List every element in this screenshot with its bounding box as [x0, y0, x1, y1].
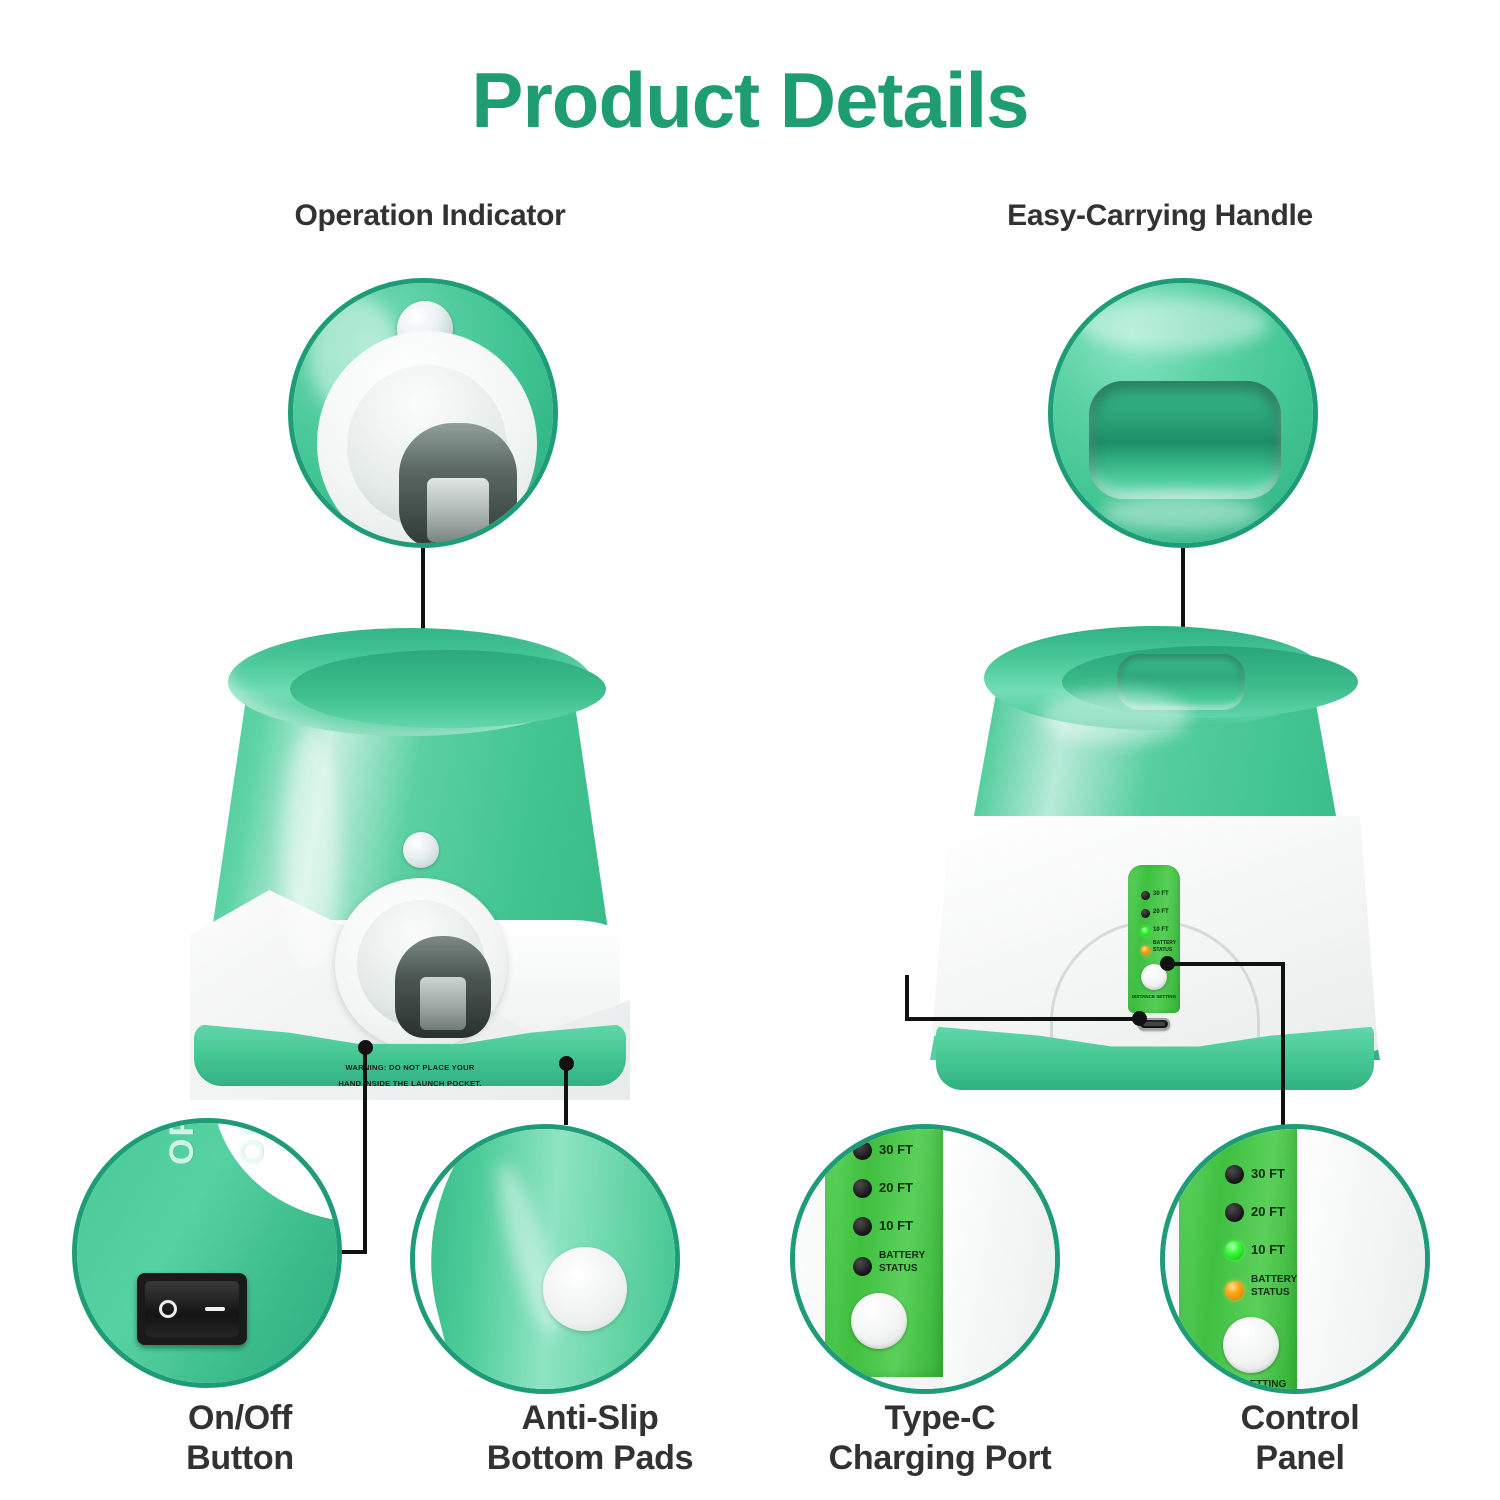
connector-line-type-c-horizontal — [905, 1017, 1140, 1021]
led-label-battery: BATTERY — [879, 1251, 925, 1262]
front-top-rim-inner — [290, 650, 606, 728]
led-10ft — [853, 1217, 872, 1236]
shell-white-area-right — [1297, 1129, 1430, 1394]
anti-slip-pad — [543, 1247, 627, 1331]
motion-sensor-icon — [403, 832, 439, 868]
callout-label-control-panel-line2: Panel — [1130, 1438, 1470, 1478]
led-label-status: STATUS — [1251, 1288, 1290, 1299]
callout-label-anti-slip-pads: Anti-Slip Bottom Pads — [380, 1398, 800, 1478]
led-label-status: STATUS — [1153, 948, 1172, 953]
rocker-switch[interactable] — [137, 1273, 247, 1345]
led-battery-status — [1141, 946, 1150, 955]
connector-dot-anti-slip — [559, 1056, 574, 1071]
led-10ft — [1141, 927, 1150, 936]
led-label-10ft: 10 FT — [1153, 927, 1169, 933]
detail-circle-anti-slip-pads — [410, 1124, 680, 1394]
callout-label-type-c-port: Type-C Charging Port — [740, 1398, 1140, 1478]
distance-setting-button-label: DISTANCE SETTING — [1128, 994, 1180, 999]
led-label-30ft: 30 FT — [879, 1143, 913, 1157]
led-30ft — [1225, 1165, 1244, 1184]
led-label-10ft: 10 FT — [879, 1219, 913, 1233]
detail-circle-type-c-port: 30 FT 20 FT 10 FT BATTERY STATUS DISTANC… — [790, 1124, 1060, 1394]
connector-line-anti-slip — [564, 1062, 568, 1125]
launch-roller — [420, 977, 466, 1030]
detail-circle-control-panel: 30 FT 20 FT 10 FT BATTERY STATUS DISTANC… — [1160, 1124, 1430, 1394]
led-30ft — [853, 1141, 872, 1160]
led-20ft — [1225, 1203, 1244, 1222]
led-label-20ft: 20 FT — [879, 1181, 913, 1195]
callout-label-type-c-line1: Type-C — [740, 1398, 1140, 1438]
connector-line-control-panel-vertical — [1281, 962, 1285, 1130]
distance-setting-button-label: DISTANCE SETTING — [1179, 1379, 1297, 1390]
distance-setting-button[interactable] — [1223, 1317, 1279, 1373]
led-20ft — [853, 1179, 872, 1198]
callout-label-on-off-line1: On/Off — [70, 1398, 410, 1438]
callout-label-anti-slip-line1: Anti-Slip — [380, 1398, 800, 1438]
connector-dot-type-c — [1132, 1011, 1147, 1026]
launch-pocket-ring — [357, 900, 485, 1028]
led-label-20ft: 20 FT — [1251, 1205, 1285, 1219]
connector-line-type-c-vertical — [905, 975, 909, 1021]
connector-line-control-panel-horizontal — [1165, 962, 1285, 966]
rocker-switch-face[interactable] — [145, 1281, 239, 1337]
detail-circle-carrying-handle — [1048, 278, 1318, 548]
led-20ft — [1141, 909, 1150, 918]
callout-label-control-panel: Control Panel — [1130, 1398, 1470, 1478]
led-10ft — [1225, 1241, 1244, 1260]
page-title: Product Details — [0, 55, 1500, 146]
launch-pocket — [335, 878, 507, 1050]
detail-circle-on-off-button: OFF ON — [72, 1118, 342, 1388]
led-label-battery: BATTERY — [1153, 941, 1176, 946]
led-battery-status — [1225, 1281, 1244, 1300]
led-label-30ft: 30 FT — [1153, 891, 1169, 897]
led-label-status: STATUS — [879, 1264, 918, 1275]
front-top-rim — [228, 628, 592, 736]
detail-circle-operation-indicator — [288, 278, 558, 548]
power-on-symbol-icon — [205, 1307, 225, 1311]
launch-pocket-cavity — [399, 423, 517, 547]
carrying-handle-recess — [1089, 381, 1281, 499]
callout-label-easy-carrying-handle: Easy-Carrying Handle — [900, 198, 1420, 233]
callout-label-operation-indicator: Operation Indicator — [180, 198, 680, 233]
distance-setting-button[interactable] — [851, 1293, 907, 1349]
callout-label-on-off-button: On/Off Button — [70, 1398, 410, 1478]
connector-dot-control-panel — [1160, 956, 1175, 971]
switch-label-off: OFF — [163, 1118, 202, 1165]
shell-white-area-right — [943, 1129, 1060, 1394]
led-label-10ft: 10 FT — [1251, 1243, 1285, 1257]
carrying-handle — [1117, 654, 1245, 710]
callout-label-on-off-line2: Button — [70, 1438, 410, 1478]
launch-roller — [427, 478, 488, 542]
control-panel-strip-zoom: 30 FT 20 FT 10 FT BATTERY STATUS — [825, 1124, 943, 1377]
launch-pocket-closeup — [317, 331, 537, 548]
control-panel-strip-zoom: 30 FT 20 FT 10 FT BATTERY STATUS DISTANC… — [1179, 1124, 1297, 1394]
led-label-20ft: 20 FT — [1153, 909, 1169, 915]
launch-pocket-cavity — [395, 936, 491, 1038]
product-details-infographic: Product Details Operation Indicator Easy… — [0, 0, 1500, 1500]
led-label-battery: BATTERY — [1251, 1275, 1297, 1286]
connector-dot-on-off — [358, 1040, 373, 1055]
callout-label-anti-slip-line2: Bottom Pads — [380, 1438, 800, 1478]
connector-line-on-off-vertical — [363, 1046, 367, 1254]
led-label-30ft: 30 FT — [1251, 1167, 1285, 1181]
launch-pocket-inner-ring — [347, 365, 507, 527]
switch-label-on: ON — [233, 1118, 272, 1165]
power-off-symbol-icon — [159, 1300, 177, 1318]
product-front-view: WARNING: DO NOT PLACE YOUR HAND INSIDE T… — [190, 620, 630, 1090]
control-panel-strip[interactable]: 30 FT 20 FT 10 FT BATTERY STATUS DISTANC… — [1128, 865, 1180, 1013]
callout-label-type-c-line2: Charging Port — [740, 1438, 1140, 1478]
led-battery-status — [853, 1257, 872, 1276]
led-30ft — [1141, 891, 1150, 900]
callout-label-control-panel-line1: Control — [1130, 1398, 1470, 1438]
